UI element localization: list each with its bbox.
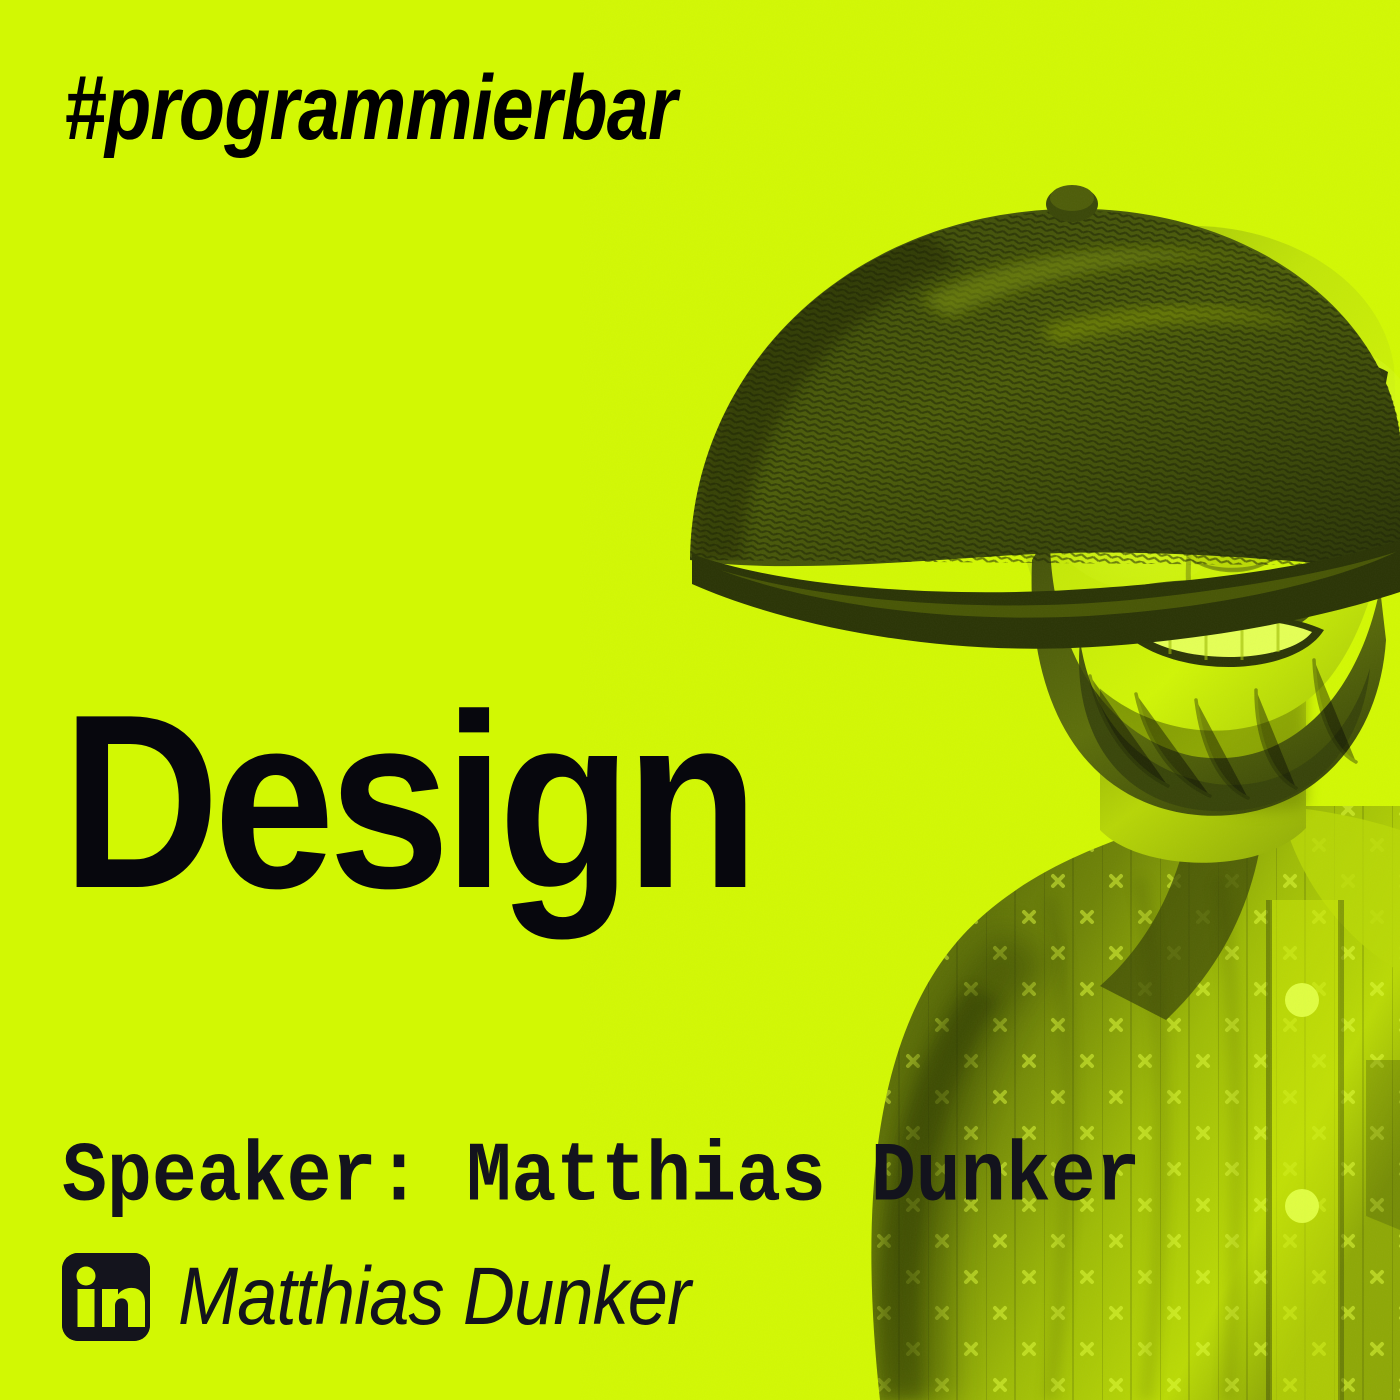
- podcast-cover: #programmierbar Design Systeme Speaker: …: [0, 0, 1400, 1400]
- linkedin-handle[interactable]: Matthias Dunker: [178, 1256, 690, 1338]
- episode-title-line-1: Design: [62, 686, 917, 918]
- social-row[interactable]: Matthias Dunker: [62, 1253, 760, 1341]
- linkedin-icon[interactable]: [62, 1253, 150, 1341]
- episode-title-line-2: Systeme: [62, 1381, 917, 1400]
- podcast-hashtag: #programmierbar: [64, 62, 676, 154]
- speaker-line: Speaker: Matthias Dunker: [62, 1136, 1140, 1220]
